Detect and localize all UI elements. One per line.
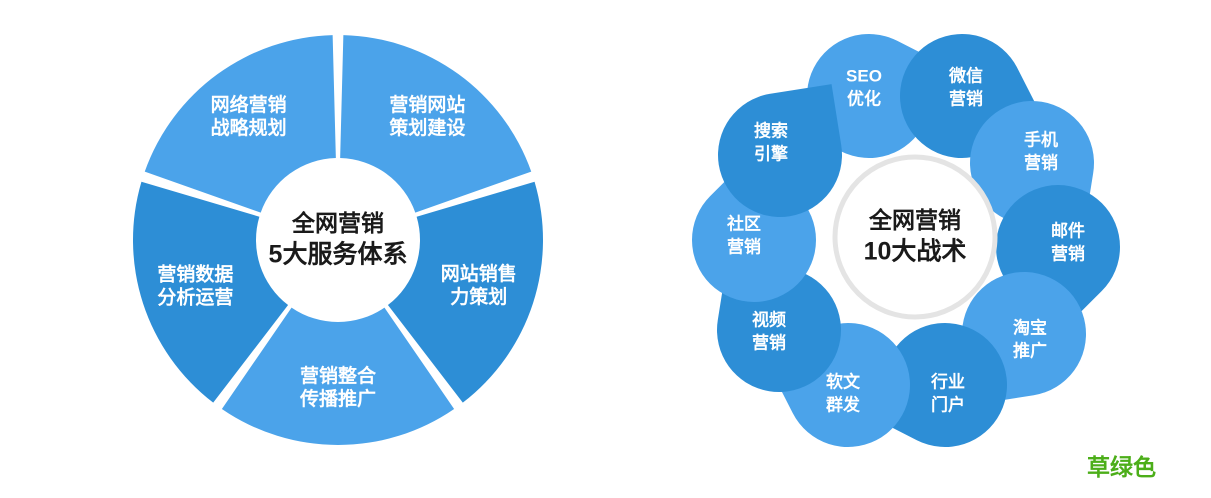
segment-label: 网络营销: [211, 93, 287, 116]
petal-label: 淘宝: [1013, 317, 1047, 337]
petal-label: 微信: [948, 65, 983, 85]
segment-label: 营销网站: [389, 93, 465, 116]
petal-label: 社区: [726, 213, 761, 233]
donut-hub-title-line2: 5大服务体系: [269, 241, 408, 269]
segment-label: 传播推广: [299, 387, 376, 410]
segment-label: 战略规划: [211, 116, 287, 139]
petal-label: 营销: [1051, 243, 1085, 263]
flower-hub-title-line2: 10大战术: [864, 238, 967, 266]
petal-label: 邮件: [1051, 220, 1085, 240]
petal-label: 营销: [1024, 152, 1058, 172]
petal-label: 推广: [1013, 340, 1047, 360]
five-service-system-donut: 营销网站策划建设网站销售力策划营销整合传播推广营销数据分析运营网络营销战略规划全…: [0, 0, 620, 498]
petal-label: 营销: [752, 332, 786, 352]
ten-tactics-flower: SEO优化微信营销手机营销邮件营销淘宝推广行业门户软文群发视频营销社区营销搜索引…: [611, 0, 1211, 498]
petal-label: 群发: [826, 394, 861, 414]
petal-label: 营销: [949, 88, 983, 108]
segment-label: 营销整合: [300, 364, 377, 387]
petal-label: 视频: [752, 309, 786, 329]
petal-label: 手机: [1024, 129, 1058, 149]
petal-label: SEO: [846, 66, 882, 85]
donut-hub-title-line1: 全网营销: [291, 210, 384, 236]
petal-label: 行业: [930, 371, 965, 391]
petal-label: 营销: [727, 236, 761, 256]
petal-label: 搜索: [754, 120, 788, 140]
petal-label: 门户: [931, 394, 965, 414]
petal-label: 软文: [826, 371, 861, 391]
flower-hub-title-line1: 全网营销: [868, 207, 961, 233]
segment-label: 网站销售: [441, 262, 517, 285]
petal-label: 引擎: [754, 143, 789, 163]
watermark-text: 草绿色: [1087, 448, 1156, 482]
diagram-canvas: 营销网站策划建设网站销售力策划营销整合传播推广营销数据分析运营网络营销战略规划全…: [0, 0, 1211, 498]
segment-label: 营销数据: [157, 262, 233, 285]
petal-label: 优化: [847, 88, 881, 108]
segment-label: 力策划: [450, 285, 507, 308]
segment-label: 策划建设: [389, 116, 465, 139]
segment-label: 分析运营: [157, 285, 233, 308]
